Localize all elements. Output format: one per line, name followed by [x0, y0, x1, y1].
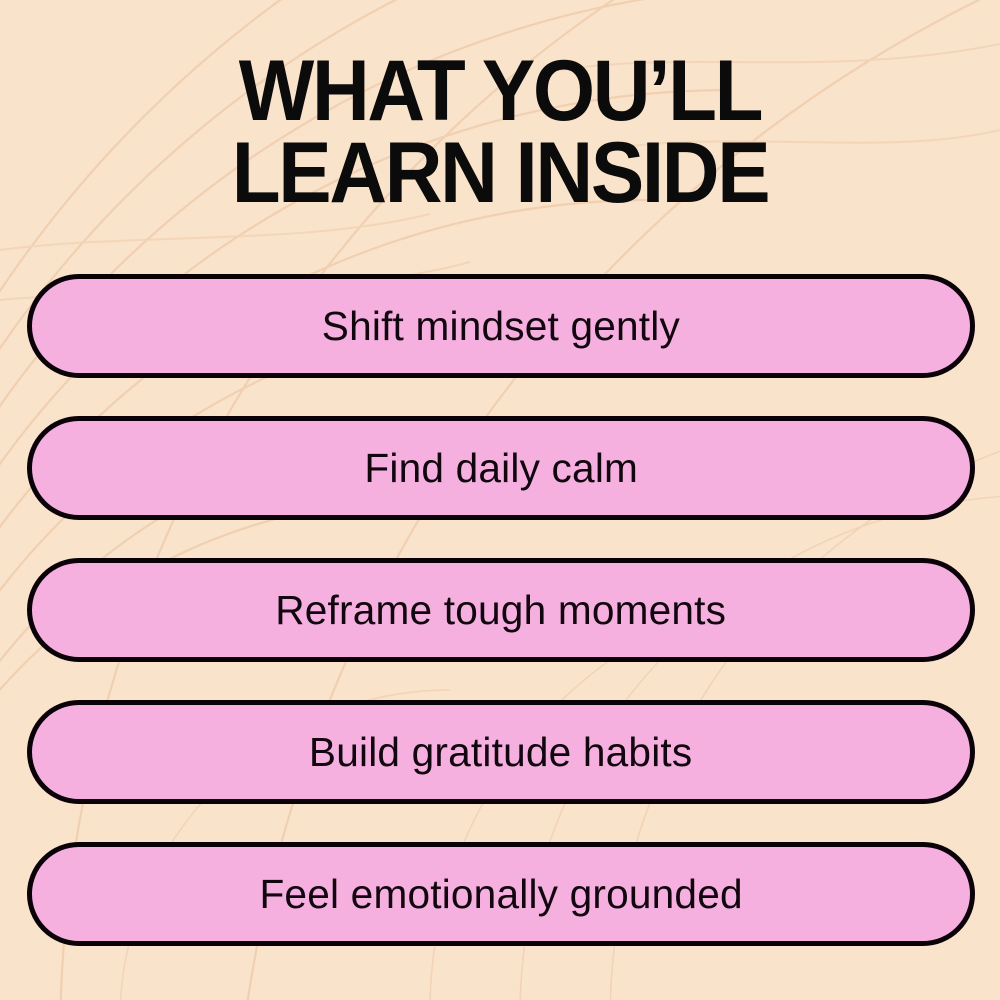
benefit-pill-4[interactable]: Build gratitude habits	[27, 700, 975, 804]
benefit-pill-label: Reframe tough moments	[276, 590, 727, 631]
poster-canvas: WHAT YOU’LL LEARN INSIDE Shift mindset g…	[0, 0, 1000, 1000]
page-title-line-2: LEARN INSIDE	[35, 132, 965, 214]
benefit-pill-2[interactable]: Find daily calm	[27, 416, 975, 520]
benefit-pill-3[interactable]: Reframe tough moments	[27, 558, 975, 662]
benefit-pill-label: Feel emotionally grounded	[259, 874, 742, 915]
benefit-list: Shift mindset gently Find daily calm Ref…	[27, 274, 975, 946]
benefit-pill-label: Build gratitude habits	[309, 732, 692, 773]
benefit-pill-5[interactable]: Feel emotionally grounded	[27, 842, 975, 946]
benefit-pill-1[interactable]: Shift mindset gently	[27, 274, 975, 378]
benefit-pill-label: Find daily calm	[364, 448, 638, 489]
page-title: WHAT YOU’LL LEARN INSIDE	[0, 50, 1000, 214]
benefit-pill-label: Shift mindset gently	[322, 306, 680, 347]
page-title-line-1: WHAT YOU’LL	[35, 50, 965, 132]
